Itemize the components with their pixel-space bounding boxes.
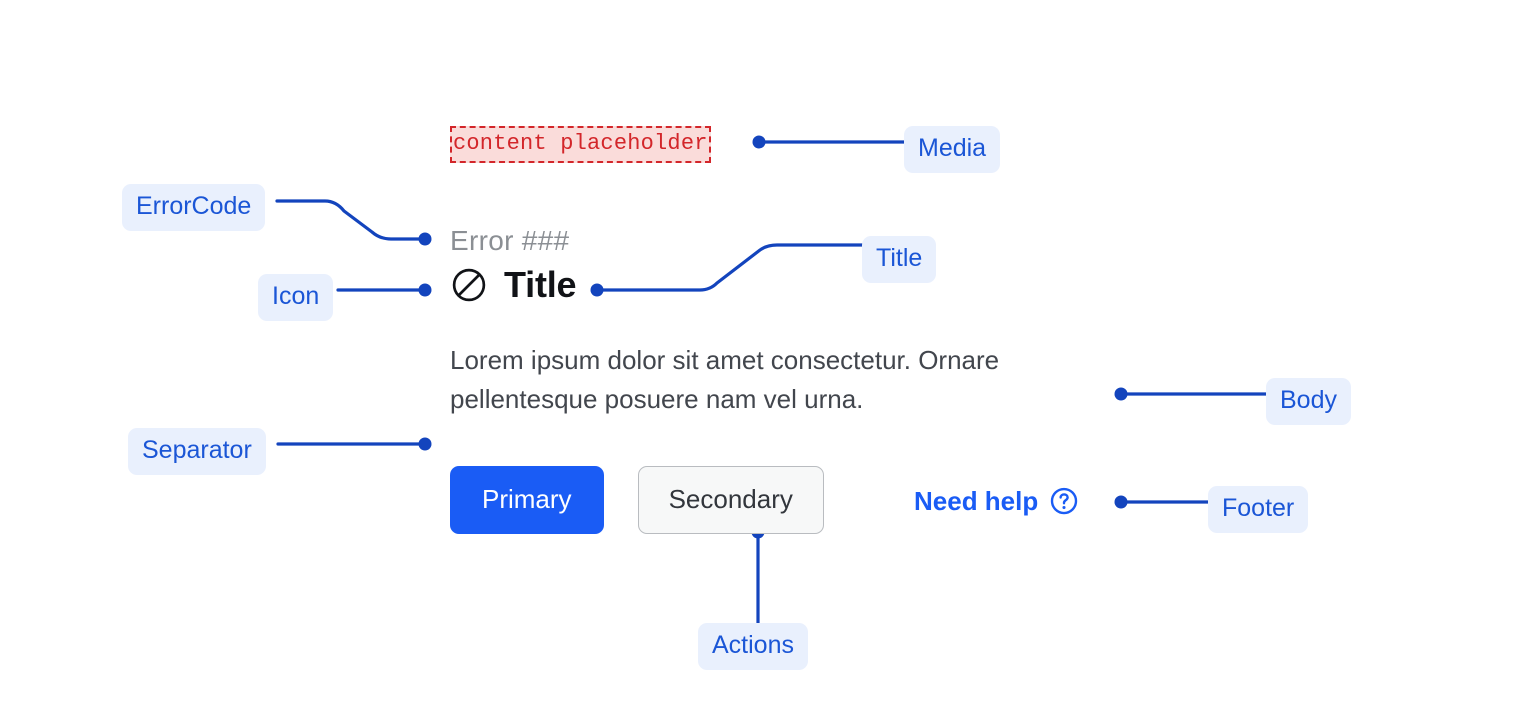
question-circle-icon	[1049, 486, 1079, 516]
primary-button[interactable]: Primary	[450, 466, 604, 534]
body-text: Lorem ipsum dolor sit amet consectetur. …	[450, 341, 1100, 419]
connector-errorcode	[277, 201, 424, 239]
connector-title	[598, 245, 862, 290]
annotation-chip-footer[interactable]: Footer	[1208, 486, 1308, 533]
secondary-button[interactable]: Secondary	[638, 466, 824, 534]
endpoint-title-dot	[591, 284, 604, 297]
annotation-chip-errorcode[interactable]: ErrorCode	[122, 184, 265, 231]
endpoint-icon-dot	[419, 284, 432, 297]
need-help-label: Need help	[914, 488, 1038, 514]
annotation-chip-separator[interactable]: Separator	[128, 428, 266, 475]
endpoint-footer-dot	[1115, 496, 1128, 509]
endpoint-separator-dot	[419, 438, 432, 451]
annotation-chip-icon[interactable]: Icon	[258, 274, 333, 321]
annotation-chip-media[interactable]: Media	[904, 126, 1000, 173]
endpoint-errorcode-dot	[419, 233, 432, 246]
annotation-chip-title[interactable]: Title	[862, 236, 936, 283]
title-row: Title	[450, 266, 576, 304]
title-text: Title	[504, 267, 576, 303]
need-help-link[interactable]: Need help	[914, 486, 1079, 516]
endpoint-body-dot	[1115, 388, 1128, 401]
endpoint-media-dot	[753, 136, 766, 149]
media-content-placeholder: content placeholder	[450, 126, 711, 163]
annotation-chip-actions[interactable]: Actions	[698, 623, 808, 670]
annotation-canvas: content placeholder Error ### Title Lore…	[0, 0, 1536, 724]
error-code-text: Error ###	[450, 225, 569, 257]
prohibition-icon	[450, 266, 488, 304]
annotation-chip-body[interactable]: Body	[1266, 378, 1351, 425]
actions-row: Primary Secondary	[450, 466, 824, 534]
